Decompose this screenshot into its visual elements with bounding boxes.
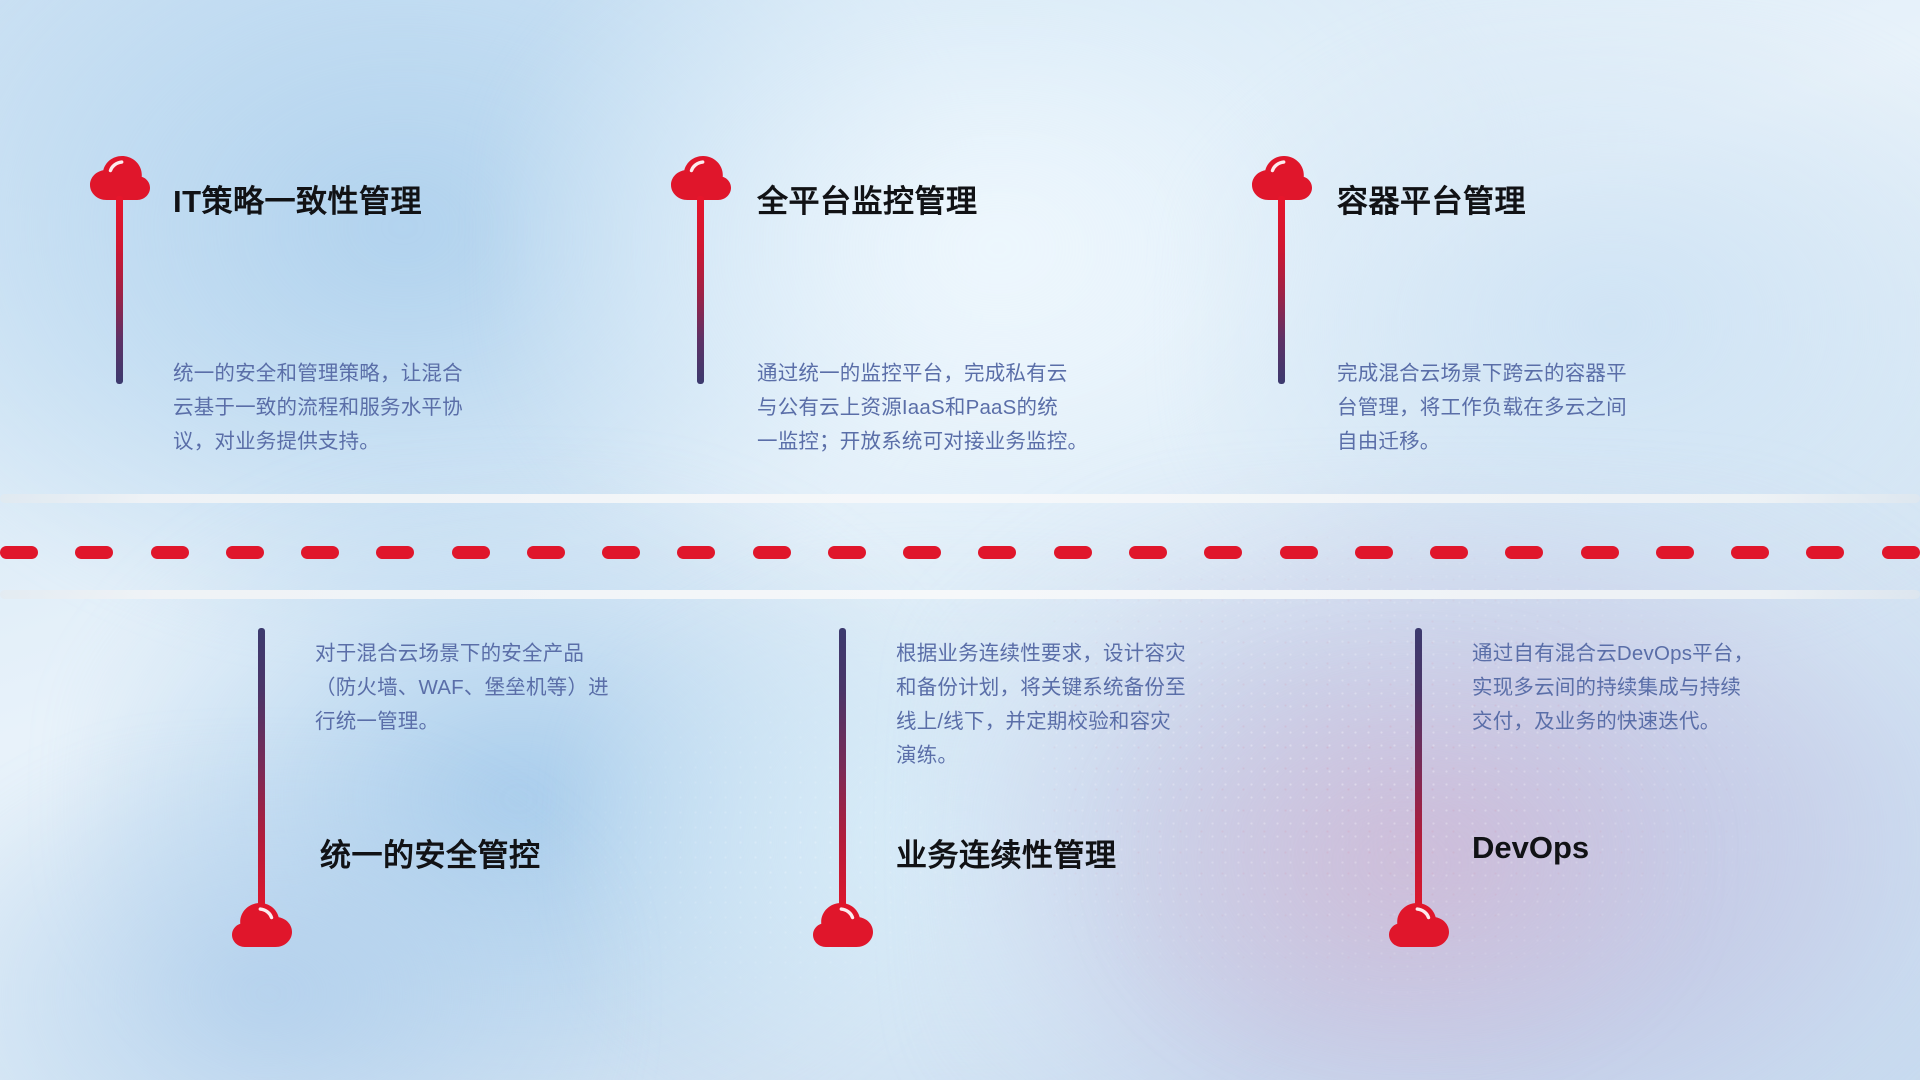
item-heading: IT策略一致性管理: [173, 176, 422, 221]
item-heading: 业务连续性管理: [896, 830, 1117, 875]
cloud-icon: [89, 155, 151, 201]
cloud-icon: [1251, 155, 1313, 201]
divider-dash: [1731, 546, 1769, 559]
divider-dash: [527, 546, 565, 559]
item-body: 根据业务连续性要求，设计容灾 和备份计划，将关键系统备份至 线上/线下，并定期校…: [896, 637, 1326, 773]
divider-dash: [1505, 546, 1543, 559]
item-heading: 统一的安全管控: [320, 830, 541, 875]
divider-dash: [1581, 546, 1619, 559]
item-body: 对于混合云场景下的安全产品 （防火墙、WAF、堡垒机等）进 行统一管理。: [315, 637, 745, 739]
item-heading: DevOps: [1472, 830, 1589, 866]
divider-dash: [0, 546, 38, 559]
item-heading: 全平台监控管理: [757, 176, 978, 221]
timeline-stem: [1278, 196, 1285, 384]
divider-dash: [978, 546, 1016, 559]
background-glow-bottom-left: [0, 756, 614, 1080]
cloud-icon: [231, 902, 293, 948]
item-body: 统一的安全和管理策略，让混合 云基于一致的流程和服务水平协 议，对业务提供支持。: [173, 357, 603, 459]
divider-dash: [1882, 546, 1920, 559]
divider-dash: [602, 546, 640, 559]
cloud-icon: [1388, 902, 1450, 948]
divider-dash: [75, 546, 113, 559]
divider-dash: [1355, 546, 1393, 559]
divider-dash: [151, 546, 189, 559]
divider-dash: [903, 546, 941, 559]
item-body: 完成混合云场景下跨云的容器平 台管理，将工作负载在多云之间 自由迁移。: [1337, 357, 1767, 459]
timeline-stem: [697, 196, 704, 384]
divider-rail-bottom: [0, 590, 1920, 599]
divider-dash: [828, 546, 866, 559]
divider-dash: [753, 546, 791, 559]
infographic-canvas: IT策略一致性管理 统一的安全和管理策略，让混合 云基于一致的流程和服务水平协 …: [0, 0, 1920, 1080]
item-body: 通过自有混合云DevOps平台， 实现多云间的持续集成与持续 交付，及业务的快速…: [1472, 637, 1902, 739]
divider-dash: [1280, 546, 1318, 559]
timeline-stem: [116, 196, 123, 384]
divider-rail-top: [0, 494, 1920, 503]
divider-dash: [1656, 546, 1694, 559]
divider-dash: [226, 546, 264, 559]
divider-dash: [1806, 546, 1844, 559]
divider-dash: [1054, 546, 1092, 559]
item-heading: 容器平台管理: [1337, 176, 1526, 221]
divider-dash: [452, 546, 490, 559]
item-body: 通过统一的监控平台，完成私有云 与公有云上资源IaaS和PaaS的统 一监控；开…: [757, 357, 1207, 459]
timeline-stem: [1415, 628, 1422, 910]
timeline-stem: [258, 628, 265, 910]
cloud-icon: [812, 902, 874, 948]
divider-dash: [677, 546, 715, 559]
divider-dashed-line: [0, 545, 1920, 559]
divider-dash: [1204, 546, 1242, 559]
divider-dash: [1430, 546, 1468, 559]
divider-dash: [1129, 546, 1167, 559]
divider-dash: [376, 546, 414, 559]
divider-dash: [301, 546, 339, 559]
cloud-icon: [670, 155, 732, 201]
timeline-stem: [839, 628, 846, 910]
